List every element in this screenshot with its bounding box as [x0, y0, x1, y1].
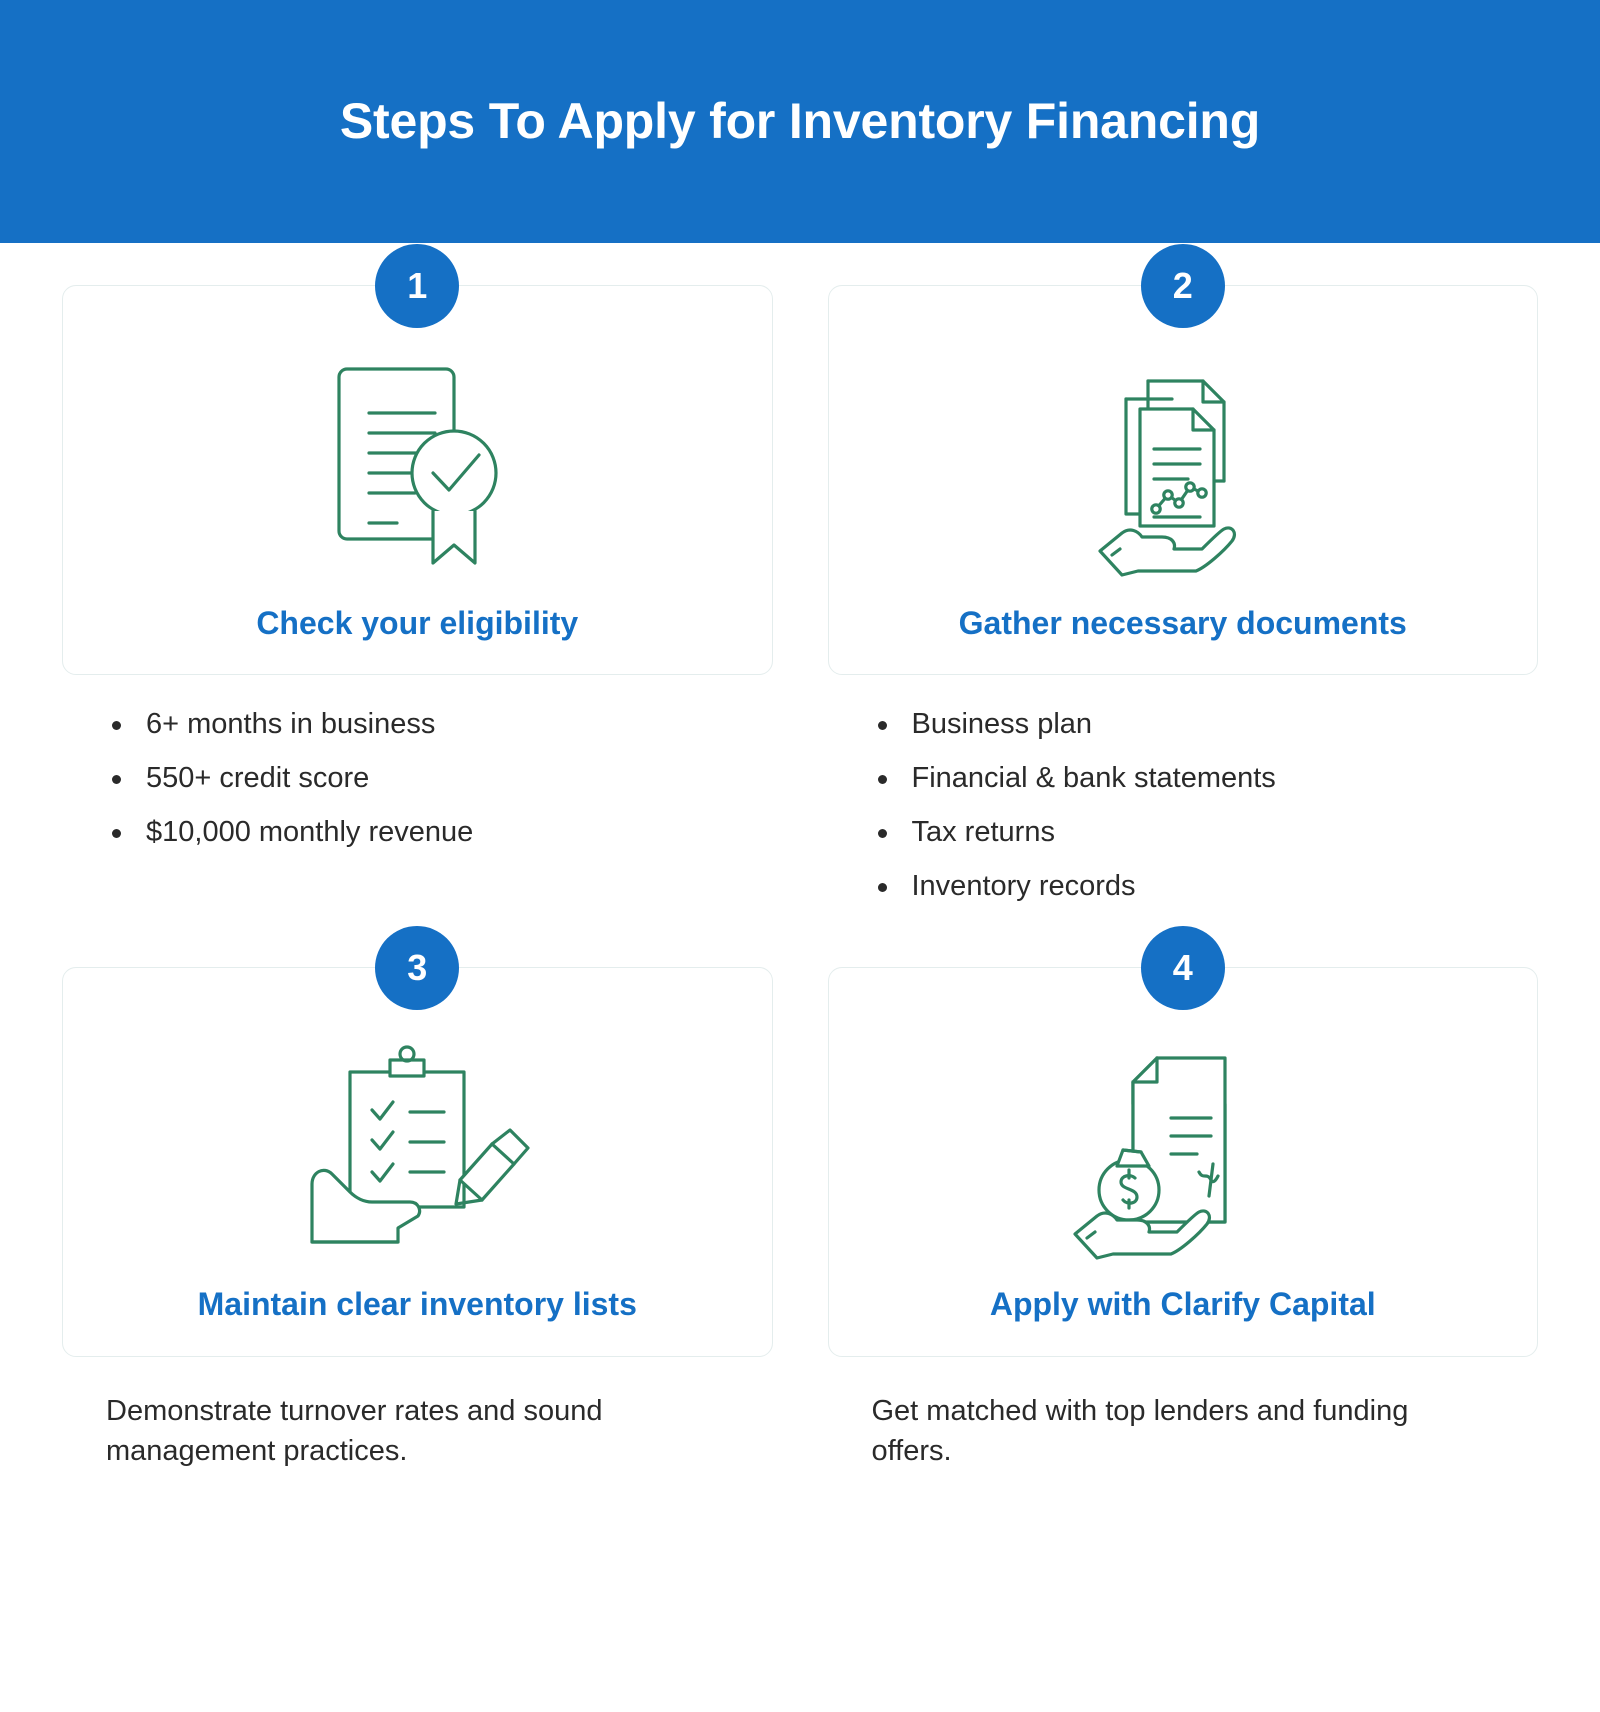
step-4-title: Apply with Clarify Capital: [974, 1285, 1392, 1333]
step-2-card[interactable]: 2: [828, 285, 1539, 675]
step-4-description: Get matched with top lenders and funding…: [872, 1391, 1432, 1471]
list-item: 550+ credit score: [106, 763, 765, 795]
step-2-bullet-list: Business plan Financial & bank statement…: [872, 709, 1531, 903]
step-4-badge: 4: [1141, 926, 1225, 1010]
step-4-card[interactable]: 4: [828, 967, 1539, 1357]
header-banner: Steps To Apply for Inventory Financing: [0, 0, 1600, 243]
list-item: 6+ months in business: [106, 709, 765, 741]
step-3-title: Maintain clear inventory lists: [182, 1285, 653, 1333]
certificate-check-icon: [63, 286, 772, 604]
list-item: Financial & bank statements: [872, 763, 1531, 795]
steps-grid: 1 Check your eligibili: [0, 243, 1600, 1471]
step-2-title: Gather necessary documents: [943, 604, 1423, 652]
step-1-body: 6+ months in business 550+ credit score …: [62, 675, 773, 849]
money-bag-document-icon: [829, 968, 1538, 1286]
step-2: 2: [828, 243, 1539, 925]
step-1: 1 Check your eligibili: [62, 243, 773, 925]
list-item: Business plan: [872, 709, 1531, 741]
step-3-body: Demonstrate turnover rates and sound man…: [62, 1357, 773, 1471]
step-3: 3: [62, 925, 773, 1471]
clipboard-checklist-pencil-icon: [63, 968, 772, 1286]
step-1-bullet-list: 6+ months in business 550+ credit score …: [106, 709, 765, 849]
step-4-body: Get matched with top lenders and funding…: [828, 1357, 1539, 1471]
step-1-title: Check your eligibility: [240, 604, 594, 652]
infographic-page: Steps To Apply for Inventory Financing 1: [0, 0, 1600, 1712]
step-3-badge: 3: [375, 926, 459, 1010]
step-3-description: Demonstrate turnover rates and sound man…: [106, 1391, 666, 1471]
list-item: $10,000 monthly revenue: [106, 817, 765, 849]
page-title: Steps To Apply for Inventory Financing: [340, 94, 1260, 149]
step-1-badge: 1: [375, 244, 459, 328]
step-2-body: Business plan Financial & bank statement…: [828, 675, 1539, 903]
step-3-card[interactable]: 3: [62, 967, 773, 1357]
list-item: Tax returns: [872, 817, 1531, 849]
step-4: 4: [828, 925, 1539, 1471]
step-1-card[interactable]: 1 Check your eligibili: [62, 285, 773, 675]
list-item: Inventory records: [872, 871, 1531, 903]
documents-in-hand-icon: [829, 286, 1538, 604]
step-2-badge: 2: [1141, 244, 1225, 328]
